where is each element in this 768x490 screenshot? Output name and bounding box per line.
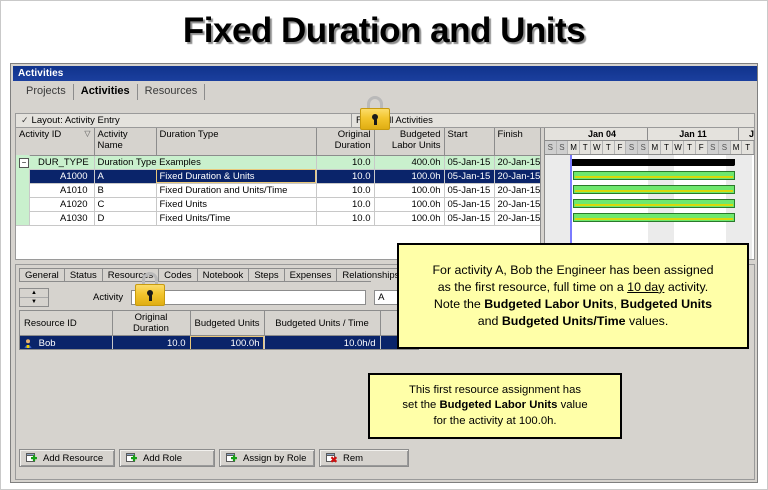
- resource-grid: Resource ID Original Duration Budgeted U…: [20, 311, 419, 350]
- cell-start: 05-Jan-15: [444, 197, 494, 211]
- tab-activities[interactable]: Activities: [74, 84, 138, 100]
- gantt-chart: Jan 04 Jan 11 Ja SSMTWTFSSMTWTFSSMT: [545, 128, 754, 259]
- detail-tab-rule: [19, 281, 371, 282]
- gantt-day-cell: T: [684, 141, 696, 154]
- gantt-day-cell: T: [742, 141, 754, 154]
- table-row[interactable]: A1030 D Fixed Units/Time 10.0 100.0h 05-…: [16, 211, 540, 225]
- add-resource-icon: [26, 453, 37, 463]
- table-row[interactable]: Bob 10.0 100.0h 10.0h/d: [20, 336, 418, 351]
- check-icon: ✓: [21, 115, 29, 126]
- cell-start: 05-Jan-15: [444, 183, 494, 197]
- gantt-day-cell: S: [545, 141, 557, 154]
- callout-budgeted-labor-units: This first resource assignment has set t…: [368, 373, 622, 439]
- collapse-icon[interactable]: −: [19, 158, 29, 168]
- gantt-day-cell: W: [591, 141, 603, 154]
- callout2-line-1: This first resource assignment has: [409, 384, 581, 396]
- layout-selector[interactable]: ✓ Layout: Activity Entry: [16, 115, 120, 126]
- col-resource-id[interactable]: Resource ID: [20, 311, 112, 336]
- wbs-id-text: DUR_TYPE: [38, 157, 89, 168]
- remove-resource-label: Rem: [343, 453, 363, 464]
- cell-duration-type: Fixed Duration and Units/Time: [156, 183, 316, 197]
- resource-grid-header: Resource ID Original Duration Budgeted U…: [20, 311, 418, 336]
- gantt-day-cell: M: [649, 141, 661, 154]
- resource-name-text: Bob: [39, 338, 56, 349]
- sort-descending-icon: ▽: [84, 129, 90, 138]
- cell-budgeted-labor-units: 100.0h: [374, 169, 444, 183]
- detail-tab-expenses[interactable]: Expenses: [284, 268, 338, 282]
- window-title: Activities: [18, 68, 63, 79]
- activity-table: Activity ID ▽ Activity Name Duration Typ…: [16, 128, 540, 259]
- cell-original-duration: 10.0: [316, 211, 374, 225]
- cell-duration-type: Fixed Units: [156, 197, 316, 211]
- assign-by-role-label: Assign by Role: [243, 453, 306, 464]
- gantt-summary-bar: [571, 159, 734, 166]
- row-strip-children: [16, 169, 30, 225]
- cell-budgeted-units[interactable]: 100.0h: [190, 336, 264, 351]
- gantt-bar[interactable]: [573, 213, 735, 222]
- callout-second-text: This first resource assignment has set t…: [402, 383, 587, 430]
- gantt-week-label: Jan 04: [557, 128, 648, 140]
- col-budgeted-units-time[interactable]: Budgeted Units / Time: [264, 311, 380, 336]
- cell-original-duration: 10.0: [316, 155, 374, 169]
- gantt-day-cell: S: [719, 141, 731, 154]
- cell-activity-name: A: [94, 169, 156, 183]
- cell-start: 05-Jan-15: [444, 211, 494, 225]
- col-duration-type[interactable]: Duration Type: [156, 128, 316, 155]
- window-titlebar: Activities: [13, 66, 757, 81]
- gantt-day-cell: M: [568, 141, 580, 154]
- col-activity-id[interactable]: Activity ID ▽: [16, 128, 94, 155]
- slide-canvas: Fixed Duration and Units Activities Proj…: [0, 0, 768, 490]
- gantt-day-cell: W: [673, 141, 685, 154]
- callout-line-2-underlined: 10 day: [627, 280, 664, 294]
- detail-tab-relationships[interactable]: Relationships: [336, 268, 405, 282]
- cell-finish: 20-Jan-15: [494, 183, 540, 197]
- detail-tab-notebook[interactable]: Notebook: [197, 268, 250, 282]
- callout-line-2b: activity.: [664, 280, 708, 294]
- cell-activity-name: D: [94, 211, 156, 225]
- gantt-day-header: SSMTWTFSSMTWTFSSMT: [545, 141, 754, 155]
- cell-activity-name: C: [94, 197, 156, 211]
- callout-term-budgeted-labor-units: Budgeted Labor Units: [484, 297, 613, 311]
- gantt-day-cell: F: [696, 141, 708, 154]
- callout-line-4c: values.: [626, 314, 669, 328]
- filter-value: All Activities: [383, 115, 433, 126]
- padlock-icon: [360, 96, 390, 130]
- cell-original-duration: 10.0: [316, 197, 374, 211]
- detail-tab-general[interactable]: General: [19, 268, 65, 282]
- cell-activity-id: − DUR_TYPE: [16, 155, 94, 169]
- table-row[interactable]: A1000 A Fixed Duration & Units 10.0 100.…: [16, 169, 540, 183]
- cell-finish: 20-Jan-15: [494, 211, 540, 225]
- resource-person-icon: [24, 339, 32, 348]
- remove-resource-icon: [326, 453, 337, 463]
- cell-activity-name: B: [94, 183, 156, 197]
- gantt-bar[interactable]: [573, 199, 735, 208]
- stepper-down-icon[interactable]: ▼: [20, 298, 48, 306]
- activity-id-field[interactable]: A1000: [131, 290, 366, 305]
- cell-budgeted-labor-units: 100.0h: [374, 211, 444, 225]
- tab-projects[interactable]: Projects: [19, 84, 74, 100]
- callout2-line-2c: value: [557, 399, 587, 411]
- padlock-keyhole-slot: [149, 294, 152, 301]
- add-role-button[interactable]: Add Role: [119, 449, 215, 467]
- callout-line-1: For activity A, Bob the Engineer has bee…: [432, 263, 713, 277]
- cell-original-duration: 10.0: [316, 183, 374, 197]
- col-budgeted-units[interactable]: Budgeted Units: [190, 311, 264, 336]
- cell-duration-type[interactable]: Fixed Duration & Units: [156, 169, 316, 183]
- col-original-duration[interactable]: Original Duration: [316, 128, 374, 155]
- gantt-day-cell: T: [661, 141, 673, 154]
- detail-tab-status[interactable]: Status: [64, 268, 103, 282]
- activity-table-region: Activity ID ▽ Activity Name Duration Typ…: [15, 127, 755, 260]
- stepper-up-icon[interactable]: ▲: [20, 289, 48, 298]
- detail-tab-strip: GeneralStatusResourcesCodesNotebookSteps…: [19, 268, 404, 282]
- table-row[interactable]: − DUR_TYPE Duration Type Examples 10.0 4…: [16, 155, 540, 169]
- gantt-day-cell: T: [580, 141, 592, 154]
- table-row[interactable]: A1010 B Fixed Duration and Units/Time 10…: [16, 183, 540, 197]
- gantt-week-header: Jan 04 Jan 11 Ja: [545, 128, 754, 141]
- cell-start: 05-Jan-15: [444, 155, 494, 169]
- callout2-line-2a: set the: [402, 399, 439, 411]
- col-start[interactable]: Start: [444, 128, 494, 155]
- cell-duration-type: Fixed Units/Time: [156, 211, 316, 225]
- col-res-original-duration[interactable]: Original Duration: [112, 311, 190, 336]
- cell-budgeted-labor-units: 400.0h: [374, 155, 444, 169]
- page-title: Fixed Duration and Units: [183, 11, 585, 51]
- gantt-day-cell: S: [638, 141, 650, 154]
- resource-assignment-table: Resource ID Original Duration Budgeted U…: [19, 310, 419, 350]
- cell-budgeted-labor-units: 100.0h: [374, 197, 444, 211]
- gantt-day-cell: M: [731, 141, 743, 154]
- gantt-day-cell: S: [626, 141, 638, 154]
- callout2-term-budgeted-labor-units: Budgeted Labor Units: [439, 399, 557, 411]
- padlock-icon: [135, 272, 165, 306]
- resource-action-buttons: Add Resource Add Role Assign by Role: [19, 447, 751, 469]
- padlock-keyhole-slot: [374, 118, 377, 125]
- col-budgeted-labor-units[interactable]: Budgeted Labor Units: [374, 128, 444, 155]
- cell-res-original-duration: 10.0: [112, 336, 190, 351]
- detail-tab-steps[interactable]: Steps: [248, 268, 284, 282]
- cell-budgeted-labor-units: 100.0h: [374, 183, 444, 197]
- table-row[interactable]: A1020 C Fixed Units 10.0 100.0h 05-Jan-1…: [16, 197, 540, 211]
- cell-finish: 20-Jan-15: [494, 197, 540, 211]
- callout-resource-assignment: For activity A, Bob the Engineer has bee…: [397, 243, 749, 349]
- activity-grid-header: Activity ID ▽ Activity Name Duration Typ…: [16, 128, 540, 155]
- callout-line-4a: and: [478, 314, 502, 328]
- activity-grid: Activity ID ▽ Activity Name Duration Typ…: [16, 128, 540, 226]
- cell-budgeted-units-time: 10.0h/d: [264, 336, 380, 351]
- cell-original-duration: 10.0: [316, 169, 374, 183]
- gantt-day-cell: S: [557, 141, 569, 154]
- callout-line-3a: Note the: [434, 297, 484, 311]
- add-role-icon: [126, 453, 137, 463]
- add-role-label: Add Role: [143, 453, 182, 464]
- callout-line-2a: as the first resource, full time on a: [438, 280, 627, 294]
- col-finish[interactable]: Finish: [494, 128, 540, 155]
- callout-line-3-sep: ,: [614, 297, 621, 311]
- gantt-day-cell: S: [708, 141, 720, 154]
- add-resource-label: Add Resource: [43, 453, 103, 464]
- cell-resource-id: Bob: [20, 336, 112, 351]
- cell-finish: 20-Jan-15: [494, 155, 540, 169]
- activity-field-label: Activity: [93, 292, 123, 303]
- activity-stepper[interactable]: ▲ ▼: [19, 288, 49, 307]
- slide-title-bar: Fixed Duration and Units: [0, 0, 768, 62]
- gantt-day-cell: F: [615, 141, 627, 154]
- col-activity-name[interactable]: Activity Name: [94, 128, 156, 155]
- gantt-week-label: Jan 11: [648, 128, 739, 140]
- gantt-day-cell: T: [603, 141, 615, 154]
- gantt-bar[interactable]: [573, 171, 735, 180]
- cell-start: 05-Jan-15: [444, 169, 494, 183]
- callout-term-budgeted-units: Budgeted Units: [621, 297, 713, 311]
- callout2-line-3: for the activity at 100.0h.: [433, 415, 556, 427]
- tab-resources[interactable]: Resources: [138, 84, 206, 100]
- remove-resource-button[interactable]: Rem: [319, 449, 409, 467]
- gantt-bar[interactable]: [573, 185, 735, 194]
- cell-finish: 20-Jan-15: [494, 169, 540, 183]
- col-activity-id-label: Activity ID: [19, 129, 61, 140]
- layout-label: Layout: Activity Entry: [32, 115, 120, 126]
- cell-activity-name: Duration Type Examples: [94, 155, 316, 169]
- assign-by-role-button[interactable]: Assign by Role: [219, 449, 315, 467]
- assign-by-role-icon: [226, 453, 237, 463]
- gantt-week-label: Ja: [739, 128, 754, 140]
- add-resource-button[interactable]: Add Resource: [19, 449, 115, 467]
- callout-first-text: For activity A, Bob the Engineer has bee…: [432, 262, 713, 330]
- callout-term-budgeted-units-time: Budgeted Units/Time: [502, 314, 626, 328]
